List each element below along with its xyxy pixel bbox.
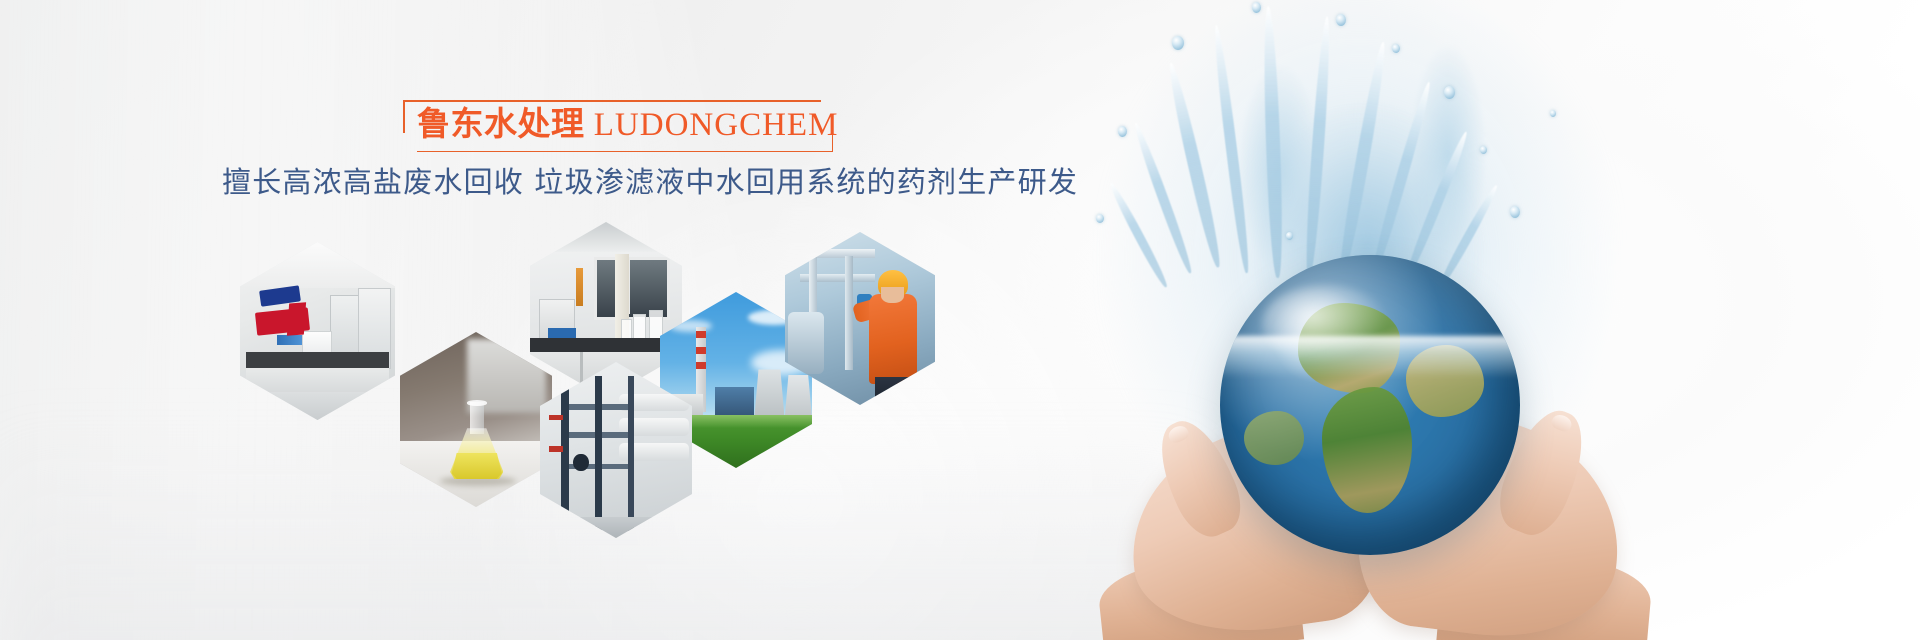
bracket-bottom-line — [417, 151, 833, 153]
water-droplet — [1172, 36, 1184, 50]
landmass — [1322, 387, 1412, 513]
water-droplet — [1252, 2, 1261, 13]
water-globe-artwork — [1040, 0, 1920, 640]
landmass — [1298, 303, 1400, 393]
title-block: 鲁东水处理 LUDONGCHEM — [403, 100, 833, 152]
title-brand: LUDONGCHEM — [594, 107, 839, 143]
water-droplet — [1118, 126, 1127, 137]
hero-banner: 鲁东水处理 LUDONGCHEM 擅长高浓高盐废水回收 垃圾渗滤液中水回用系统的… — [0, 0, 1920, 640]
water-droplet — [1480, 146, 1487, 154]
bracket-top-stem — [403, 100, 405, 133]
water-droplet — [1444, 86, 1455, 99]
page-subtitle: 擅长高浓高盐废水回收 垃圾渗滤液中水回用系统的药剂生产研发 — [222, 159, 1078, 201]
fingernail — [1550, 412, 1574, 433]
landmass — [1244, 411, 1304, 465]
fingernail — [1166, 423, 1190, 445]
hex-photo-lab-room-slogan — [240, 242, 395, 420]
page-title: 鲁东水处理 LUDONGCHEM — [417, 102, 838, 148]
landmass — [1406, 345, 1484, 417]
water-droplet — [1550, 110, 1556, 117]
globe-highlight — [1262, 285, 1388, 363]
water-droplet — [1096, 214, 1104, 223]
water-droplet — [1286, 232, 1293, 240]
earth-globe — [1220, 255, 1520, 555]
hex-photo-conical-flask-yellow — [400, 332, 552, 507]
hexagon-photo-cluster — [240, 214, 960, 534]
water-droplet — [1510, 206, 1520, 218]
title-latin — [585, 107, 594, 143]
globe-in-hands — [1220, 255, 1520, 555]
globe-waterline — [1220, 336, 1520, 378]
title-chinese: 鲁东水处理 — [417, 107, 585, 143]
water-droplet — [1392, 44, 1400, 53]
water-droplet — [1336, 14, 1346, 26]
